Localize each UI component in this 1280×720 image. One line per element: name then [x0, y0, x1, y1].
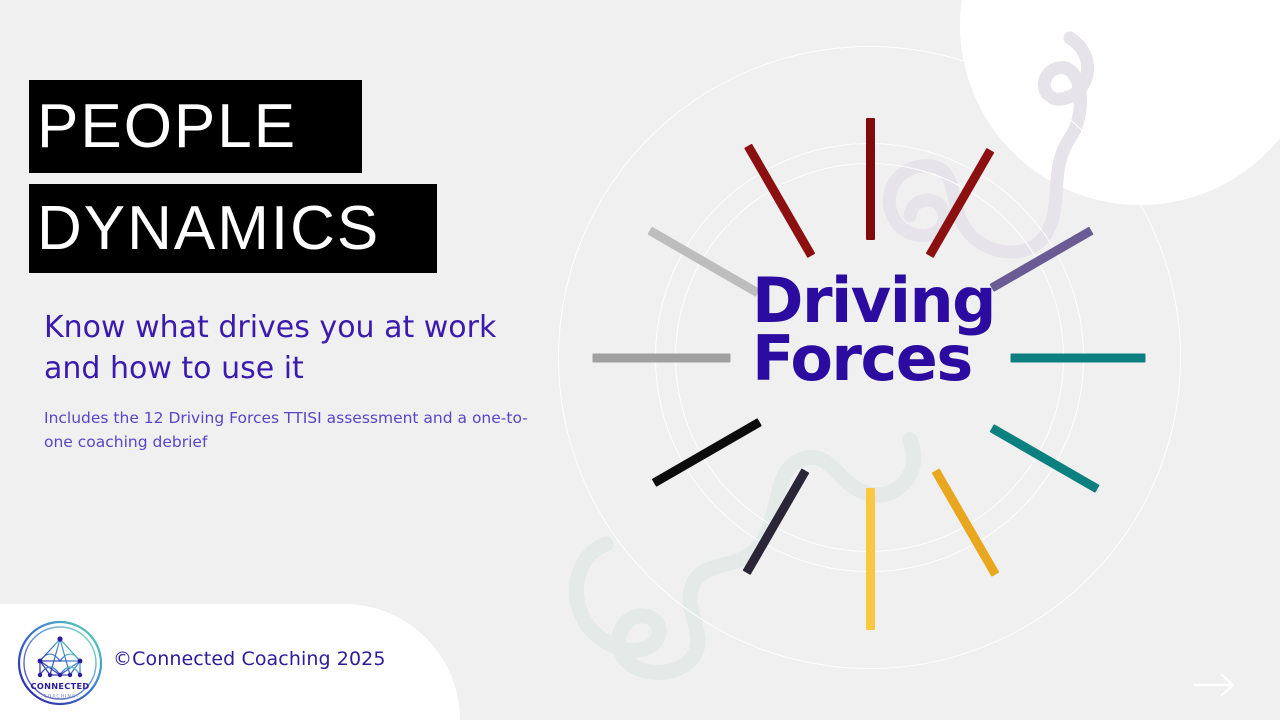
spoke-11oclock: [744, 144, 815, 258]
slide-canvas: Driving Forces PEOPLE DYNAMICS Know what…: [0, 0, 1280, 720]
spoke-9oclock: [592, 354, 730, 363]
spoke-7oclock: [742, 468, 809, 575]
spoke-12oclock: [866, 118, 875, 240]
spoke-3oclock: [1010, 354, 1145, 363]
driving-forces-wordmark: Driving Forces: [752, 272, 992, 387]
top-right-circle-decoration: [960, 0, 1280, 205]
page-title-line-1: PEOPLE: [29, 80, 362, 173]
spoke-6oclock: [866, 488, 875, 630]
wordmark-line-2: Forces: [752, 330, 992, 388]
spoke-10oclock: [647, 227, 760, 297]
headline-text: Know what drives you at work and how to …: [44, 307, 514, 390]
spoke-8oclock: [651, 418, 761, 487]
page-title-line-2: DYNAMICS: [29, 184, 437, 273]
logo-label-bottom: -COACHING-: [41, 694, 79, 700]
spoke-1oclock: [925, 148, 994, 258]
logo-label-top: CONNECTED: [31, 681, 90, 691]
next-arrow-icon[interactable]: [1192, 672, 1238, 698]
copyright-text: ©Connected Coaching 2025: [113, 648, 386, 670]
spoke-4oclock: [989, 424, 1099, 493]
connected-coaching-logo: CONNECTED -COACHING-: [16, 619, 104, 707]
subline-text: Includes the 12 Driving Forces TTISI ass…: [44, 406, 554, 454]
spoke-5oclock: [931, 468, 999, 576]
spoke-2oclock: [989, 227, 1093, 292]
